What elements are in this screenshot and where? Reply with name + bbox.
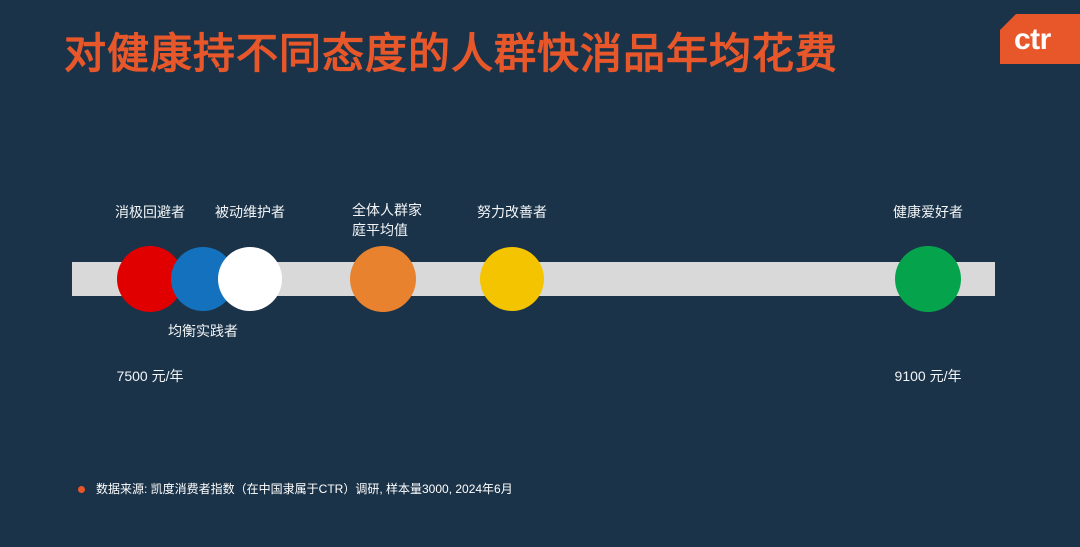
spectrum-node — [895, 246, 961, 312]
page-title: 对健康持不同态度的人群快消品年均花费 — [64, 24, 838, 84]
spectrum-node — [480, 247, 544, 311]
footnote-text: 数据来源: 凯度消费者指数（在中国隶属于CTR）调研, 样本量3000, 202… — [96, 481, 513, 497]
value-label-max: 9100 元/年 — [895, 366, 962, 386]
slide-root: 对健康持不同态度的人群快消品年均花费 ctr ® 消极回避者均衡实践者被动维护者… — [0, 0, 1080, 547]
spectrum-node-label: 健康爱好者 — [893, 202, 963, 222]
spectrum-node-label: 被动维护者 — [215, 202, 285, 222]
spectrum-node — [218, 247, 282, 311]
registered-trademark-icon: ® — [1069, 14, 1076, 25]
spectrum-node-label: 均衡实践者 — [168, 321, 238, 341]
logo-wordmark: ctr — [1014, 24, 1051, 56]
spectrum-node-label: 全体人群家 庭平均值 — [352, 200, 422, 240]
footnote: 数据来源: 凯度消费者指数（在中国隶属于CTR）调研, 样本量3000, 202… — [78, 481, 513, 497]
bullet-icon — [78, 486, 85, 493]
value-label-min: 7500 元/年 — [117, 366, 184, 386]
spectrum-node — [350, 246, 416, 312]
ctr-logo: ctr ® — [1000, 14, 1080, 64]
spectrum-node-label: 消极回避者 — [115, 202, 185, 222]
spectrum-node-label: 努力改善者 — [477, 202, 547, 222]
